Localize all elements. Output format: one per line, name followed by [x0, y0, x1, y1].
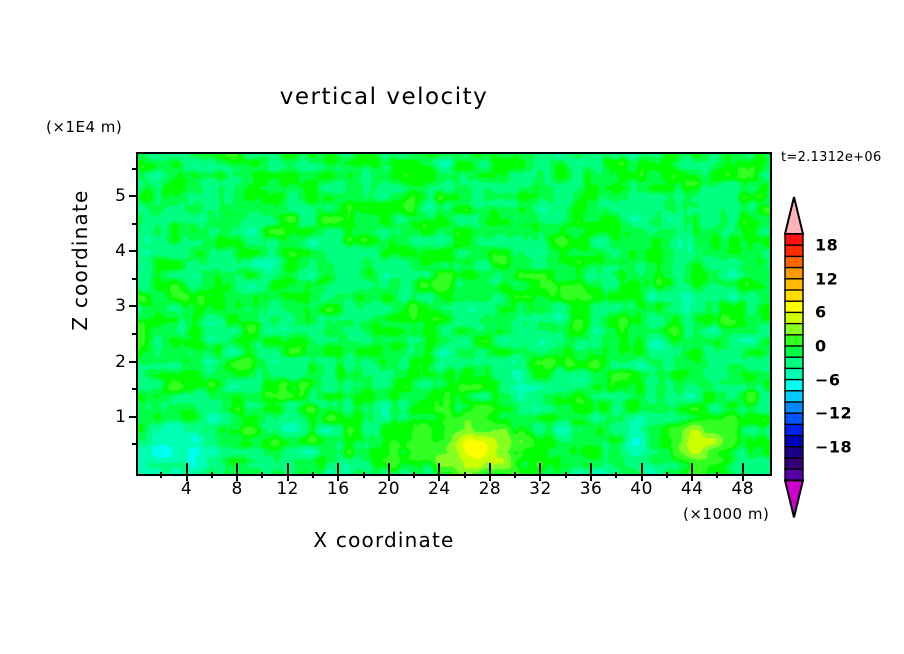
x-tick-label-16: 16 — [327, 479, 350, 499]
x-minor-tick-30 — [514, 472, 516, 478]
y-minor-tick — [132, 278, 138, 280]
y-tick-label-1: 1 — [112, 407, 126, 427]
x-tick-inner-36 — [590, 463, 592, 474]
x-tick-label-48: 48 — [731, 479, 754, 499]
colorbar-tick-label-3: 0 — [815, 337, 827, 356]
colorbar-tick-label-2: 6 — [815, 303, 827, 322]
x-tick-inner-16 — [337, 463, 339, 474]
x-minor-tick-46 — [716, 472, 718, 478]
x-tick-label-12: 12 — [276, 479, 299, 499]
y-axis-unit-label: (×1E4 m) — [46, 118, 122, 136]
x-minor-tick-42 — [666, 472, 668, 478]
y-tick-3 — [129, 305, 138, 307]
y-tick-label-3: 3 — [112, 296, 126, 316]
y-tick-label-2: 2 — [112, 352, 126, 372]
y-tick-5 — [129, 195, 138, 197]
x-minor-tick-18 — [363, 472, 365, 478]
x-tick-inner-44 — [691, 463, 693, 474]
y-minor-tick — [132, 168, 138, 170]
x-tick-label-8: 8 — [231, 479, 242, 499]
y-minor-tick — [132, 223, 138, 225]
y-axis-title: Z coordinate — [68, 160, 92, 360]
y-tick-4 — [129, 250, 138, 252]
velocity-field-canvas — [138, 154, 770, 474]
x-tick-inner-24 — [438, 463, 440, 474]
x-tick-inner-20 — [388, 463, 390, 474]
y-tick-label-4: 4 — [112, 241, 126, 261]
y-tick-2 — [129, 361, 138, 363]
x-tick-label-32: 32 — [529, 479, 552, 499]
colorbar-tick-label-6: −18 — [815, 437, 852, 456]
x-minor-tick-6 — [211, 472, 213, 478]
x-tick-inner-40 — [641, 463, 643, 474]
x-tick-label-28: 28 — [479, 479, 502, 499]
x-tick-label-4: 4 — [181, 479, 192, 499]
colorbar-tick-label-5: −12 — [815, 404, 852, 423]
colorbar-tick-label-0: 18 — [815, 236, 838, 255]
x-minor-tick-2 — [160, 472, 162, 478]
x-tick-inner-28 — [489, 463, 491, 474]
x-tick-inner-48 — [742, 463, 744, 474]
x-minor-tick-10 — [261, 472, 263, 478]
x-tick-label-24: 24 — [428, 479, 451, 499]
x-tick-label-40: 40 — [630, 479, 653, 499]
x-minor-tick-34 — [565, 472, 567, 478]
chart-title: vertical velocity — [0, 84, 768, 110]
contour-plot-area[interactable] — [136, 152, 772, 476]
x-tick-label-36: 36 — [580, 479, 603, 499]
x-minor-tick-22 — [413, 472, 415, 478]
x-minor-tick-26 — [464, 472, 466, 478]
colorbar[interactable] — [777, 196, 811, 518]
x-minor-tick-38 — [615, 472, 617, 478]
y-tick-1 — [129, 416, 138, 418]
y-minor-tick — [132, 443, 138, 445]
x-tick-inner-4 — [186, 463, 188, 474]
x-axis-unit-label: (×1000 m) — [683, 505, 769, 523]
y-minor-tick — [132, 333, 138, 335]
x-tick-label-20: 20 — [377, 479, 400, 499]
y-tick-label-5: 5 — [112, 186, 126, 206]
y-minor-tick — [132, 388, 138, 390]
x-minor-tick-14 — [312, 472, 314, 478]
x-tick-inner-12 — [287, 463, 289, 474]
colorbar-tick-label-1: 12 — [815, 269, 838, 288]
timestamp-label: t=2.1312e+06 — [781, 150, 882, 165]
x-tick-label-44: 44 — [681, 479, 704, 499]
colorbar-tick-label-4: −6 — [815, 370, 841, 389]
x-tick-inner-32 — [539, 463, 541, 474]
x-axis-title: X coordinate — [0, 528, 768, 552]
x-tick-inner-8 — [236, 463, 238, 474]
